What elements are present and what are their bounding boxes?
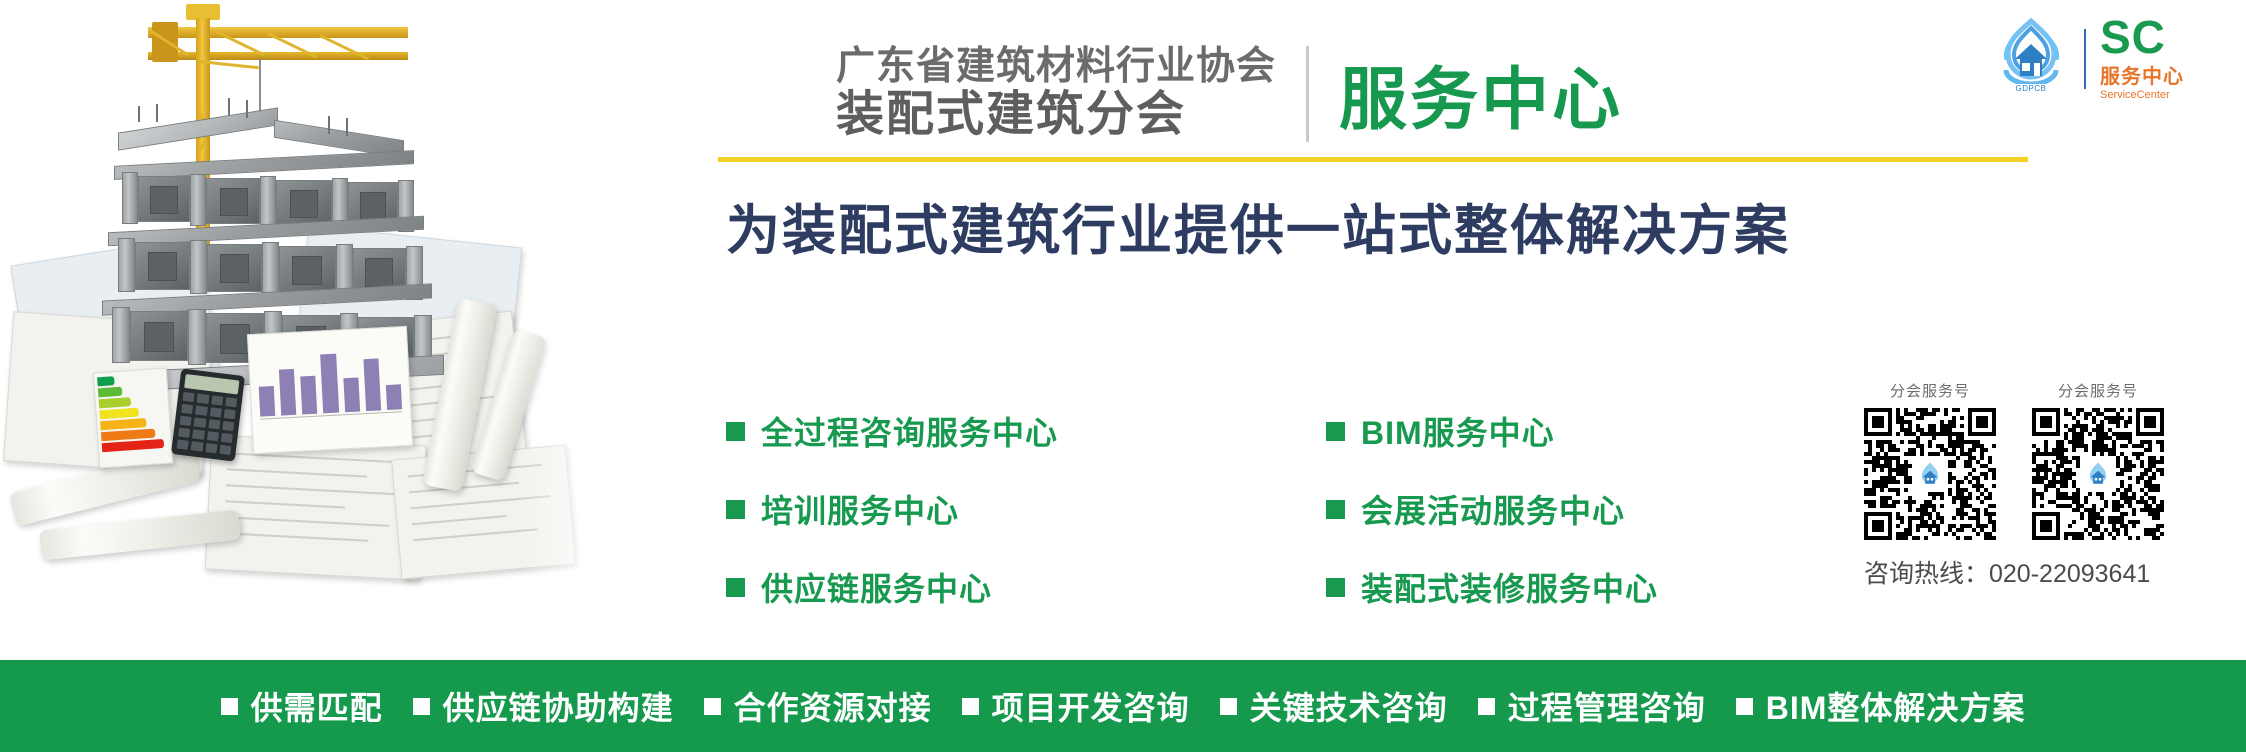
service-tag[interactable]: 关键技术咨询 [1220, 683, 1448, 729]
energy-rating-label [93, 368, 174, 469]
bar-chart-document [247, 326, 413, 454]
logo-mark-caption: GDPCB [1992, 84, 2070, 93]
headline: 为装配式建筑行业提供一站式整体解决方案 [726, 186, 1790, 265]
blue-flame-house-logo-icon: GDPCB [1992, 18, 2070, 100]
service-center-item[interactable]: 全过程咨询服务中心 [726, 408, 1326, 454]
service-tag[interactable]: 供应链协助构建 [413, 683, 674, 729]
header-title-block: 广东省建筑材料行业协会 装配式建筑分会 服务中心 [836, 44, 1623, 143]
qr-code-row: 分会服务号 分会服务号 [1864, 380, 2208, 540]
logo-abbrev: SC [2100, 16, 2166, 58]
vertical-divider-icon [2084, 29, 2086, 89]
service-tag[interactable]: 项目开发咨询 [962, 683, 1190, 729]
service-tag[interactable]: 供需匹配 [221, 683, 383, 729]
square-bullet-icon [1478, 698, 1495, 715]
service-tag-label: 过程管理咨询 [1508, 683, 1706, 729]
service-tag[interactable]: 过程管理咨询 [1478, 683, 1706, 729]
square-bullet-icon [221, 698, 238, 715]
square-bullet-icon [1736, 698, 1753, 715]
blue-flame-house-logo-icon [2082, 458, 2114, 490]
square-bullet-icon [1220, 698, 1237, 715]
service-tag-label: 合作资源对接 [734, 683, 932, 729]
image-fade-overlay [520, 0, 640, 660]
service-center-label: BIM服务中心 [1361, 408, 1555, 454]
service-center-label: 供应链服务中心 [761, 564, 992, 610]
service-tag[interactable]: BIM整体解决方案 [1736, 683, 2026, 729]
association-name: 广东省建筑材料行业协会 装配式建筑分会 [836, 47, 1276, 140]
service-center-item[interactable]: 会展活动服务中心 [1326, 486, 1926, 532]
association-name-line2: 装配式建筑分会 [836, 91, 1186, 140]
divider-rule [718, 157, 2028, 162]
crane-cable-icon [259, 58, 261, 116]
service-center-item[interactable]: BIM服务中心 [1326, 408, 1926, 454]
bottom-service-tag-bar: 供需匹配 供应链协助构建 合作资源对接 项目开发咨询 关键技术咨询 过程管理咨询 [0, 660, 2246, 752]
association-name-line1: 广东省建筑材料行业协会 [836, 47, 1276, 87]
square-bullet-icon [962, 698, 979, 715]
service-center-item[interactable]: 装配式装修服务中心 [1326, 564, 1926, 610]
service-tag-label: BIM整体解决方案 [1766, 683, 2026, 729]
square-bullet-icon [1326, 578, 1345, 597]
square-bullet-icon [726, 422, 745, 441]
promo-banner: 广东省建筑材料行业协会 装配式建筑分会 服务中心 为装配式建筑行业提供一站式整体… [0, 0, 2246, 752]
qr-code-image[interactable] [2032, 408, 2164, 540]
blue-flame-house-logo-icon [1914, 458, 1946, 490]
qr-caption: 分会服务号 [2032, 380, 2164, 401]
service-tag-label: 供需匹配 [251, 683, 383, 729]
service-center-item[interactable]: 供应链服务中心 [726, 564, 1326, 610]
service-tag-label: 供应链协助构建 [443, 683, 674, 729]
square-bullet-icon [413, 698, 430, 715]
service-tag[interactable]: 合作资源对接 [704, 683, 932, 729]
qr-code-card[interactable]: 分会服务号 [2032, 380, 2164, 540]
square-bullet-icon [1326, 500, 1345, 519]
square-bullet-icon [726, 500, 745, 519]
service-tag-label: 项目开发咨询 [992, 683, 1190, 729]
qr-code-image[interactable] [1864, 408, 1996, 540]
construction-site-photo [0, 0, 640, 660]
brand-logo[interactable]: GDPCB SC 服务中心 ServiceCenter [1992, 16, 2184, 101]
vertical-divider-icon [1306, 46, 1309, 142]
service-center-label: 全过程咨询服务中心 [761, 408, 1058, 454]
qr-code-card[interactable]: 分会服务号 [1864, 380, 1996, 540]
qr-caption: 分会服务号 [1864, 380, 1996, 401]
service-center-item[interactable]: 培训服务中心 [726, 486, 1326, 532]
service-center-label: 培训服务中心 [761, 486, 959, 532]
square-bullet-icon [704, 698, 721, 715]
contact-block: 分会服务号 分会服务号 [1864, 380, 2208, 590]
hotline-text: 咨询热线：020-22093641 [1864, 554, 2208, 590]
service-center-list: 全过程咨询服务中心 BIM服务中心 培训服务中心 会展活动服务中心 供应链服务中… [726, 408, 1926, 610]
form-document [205, 434, 427, 580]
service-center-label: 装配式装修服务中心 [1361, 564, 1658, 610]
service-tag-label: 关键技术咨询 [1250, 683, 1448, 729]
logo-chinese-label: 服务中心 [2100, 60, 2184, 89]
calculator-icon [171, 368, 245, 461]
service-center-label: 会展活动服务中心 [1361, 486, 1625, 532]
logo-english-label: ServiceCenter [2100, 89, 2170, 101]
square-bullet-icon [1326, 422, 1345, 441]
logo-wordmark: SC 服务中心 ServiceCenter [2100, 16, 2184, 101]
square-bullet-icon [726, 578, 745, 597]
page-title: 服务中心 [1339, 44, 1623, 143]
